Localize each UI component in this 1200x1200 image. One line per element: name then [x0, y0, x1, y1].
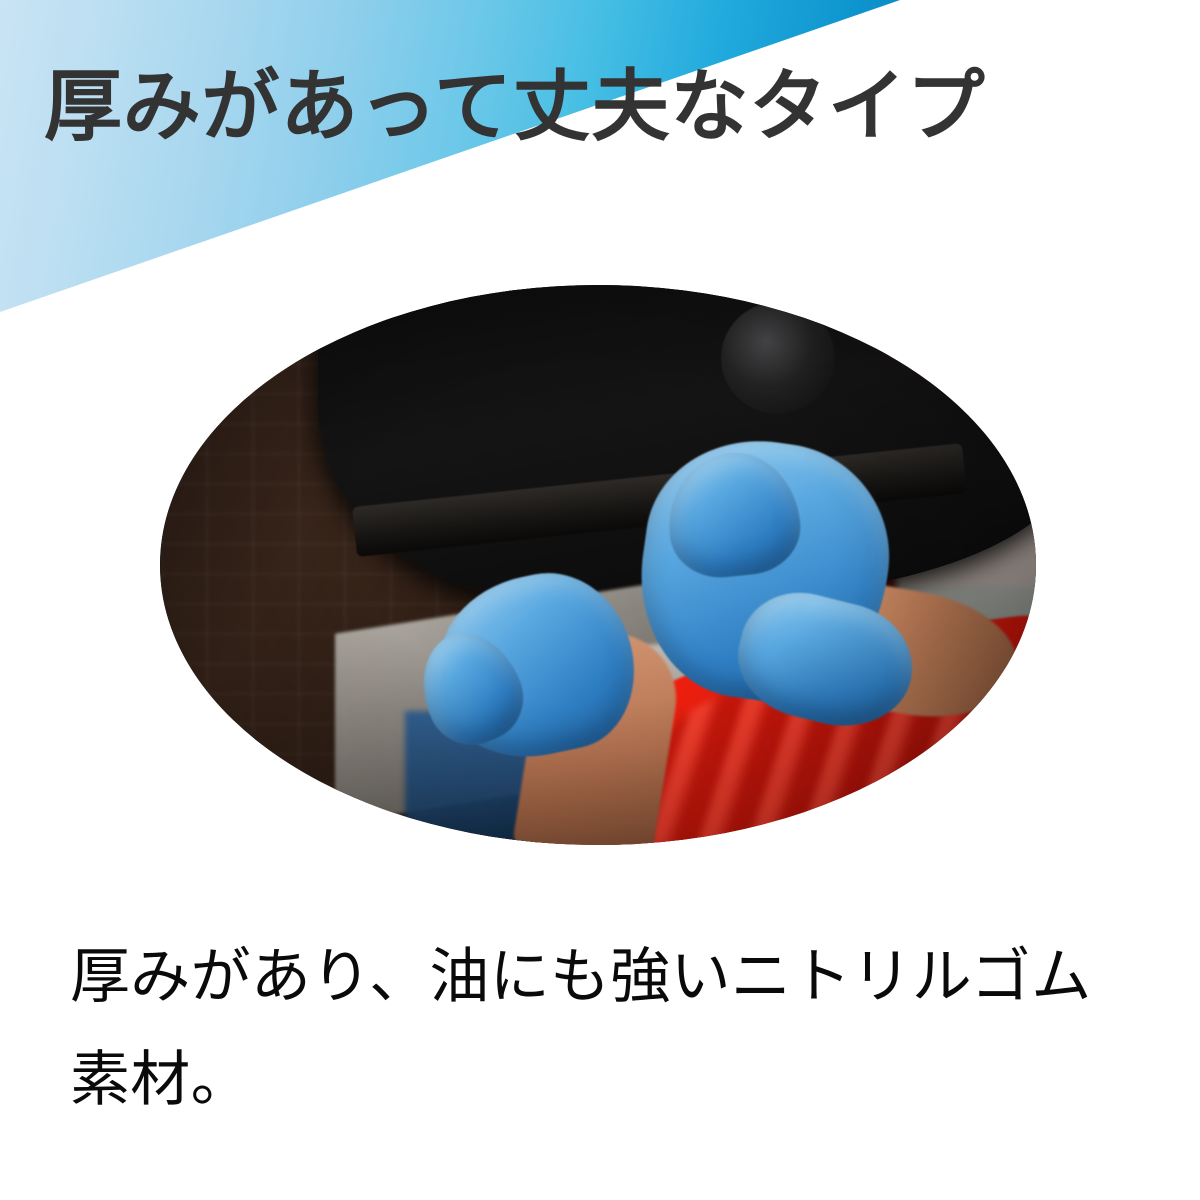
page-title: 厚みがあって丈夫なタイプ	[44, 62, 985, 152]
banner-diagonal-shape	[0, 0, 1200, 320]
photo-vignette	[160, 285, 1036, 845]
header-banner	[0, 0, 1200, 320]
photo-scene	[160, 285, 1036, 845]
feature-photo	[160, 285, 1036, 845]
feature-caption: 厚みがあり、油にも強いニトリルゴム素材。	[70, 925, 1140, 1131]
product-feature-card: 厚みがあって丈夫なタイプ 厚みがあり、油にも強いニトリルゴム素材。	[0, 0, 1200, 1200]
